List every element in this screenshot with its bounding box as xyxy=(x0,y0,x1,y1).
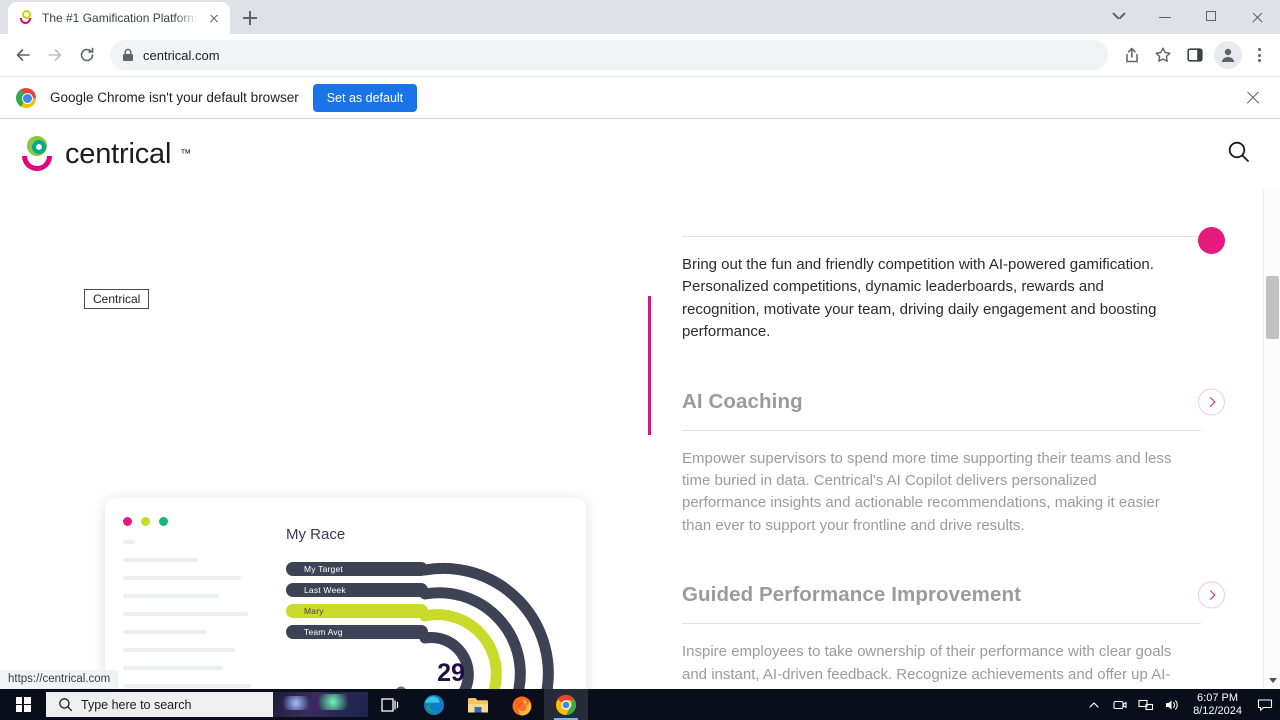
brand-wordmark: centrical xyxy=(65,138,171,171)
reload-icon[interactable] xyxy=(72,40,102,70)
chrome-window: The #1 Gamification Platform fo centrica… xyxy=(0,0,1280,689)
share-icon[interactable] xyxy=(1116,40,1146,70)
start-button[interactable] xyxy=(0,689,46,720)
set-as-default-button[interactable]: Set as default xyxy=(313,84,417,112)
bookmark-star-icon[interactable] xyxy=(1148,40,1178,70)
maximize-button[interactable] xyxy=(1188,0,1234,34)
address-bar-url: centrical.com xyxy=(143,48,220,63)
my-race-card: My Race My Target Last Week Mary Team Av… xyxy=(105,498,586,689)
tab-strip: The #1 Gamification Platform fo xyxy=(0,0,1280,34)
side-panel-icon[interactable] xyxy=(1180,40,1210,70)
file-explorer-icon[interactable] xyxy=(456,689,500,720)
firefox-icon[interactable] xyxy=(500,689,544,720)
show-hidden-icons[interactable] xyxy=(1081,689,1107,720)
site-secure-lock-icon xyxy=(122,48,134,62)
ai-coaching-body: Empower supervisors to spend more time s… xyxy=(682,431,1185,568)
search-icon xyxy=(58,697,73,712)
infobar-message: Google Chrome isn't your default browser xyxy=(50,90,299,105)
notification-center-icon[interactable] xyxy=(1250,689,1280,720)
windows-taskbar: Type here to search xyxy=(0,689,1280,720)
tab-title: The #1 Gamification Platform fo xyxy=(42,11,198,25)
google-chrome-icon[interactable] xyxy=(544,689,588,720)
close-window-button[interactable] xyxy=(1234,0,1280,34)
brand-trademark: ™ xyxy=(180,148,191,160)
page-viewport: centrical ™ Request a Demo See a Preview… xyxy=(0,119,1280,689)
chrome-menu-icon[interactable] xyxy=(1246,40,1272,70)
collapse-gamification-icon[interactable] xyxy=(1198,227,1225,254)
forward-icon[interactable] xyxy=(40,40,70,70)
close-tab-icon[interactable] xyxy=(206,10,222,26)
back-icon[interactable] xyxy=(8,40,38,70)
browser-tab[interactable]: The #1 Gamification Platform fo xyxy=(8,2,230,34)
guided-performance-body: Inspire employees to take ownership of t… xyxy=(682,624,1185,689)
chevron-right-icon[interactable] xyxy=(1198,582,1225,609)
clock-date: 8/12/2024 xyxy=(1193,705,1242,718)
site-header: centrical ™ xyxy=(0,119,1280,189)
tab-search-chevron-down-icon[interactable] xyxy=(1096,0,1142,34)
close-infobar-icon[interactable] xyxy=(1242,87,1264,109)
window-dots xyxy=(123,517,168,526)
search-icon[interactable] xyxy=(1224,137,1258,171)
logo-tooltip: Centrical xyxy=(84,289,149,309)
score-value: 29 xyxy=(421,661,481,686)
network-icon[interactable] xyxy=(1133,689,1159,720)
gamification-body: Bring out the fun and friendly competiti… xyxy=(682,237,1185,374)
system-tray: 6:07 PM 8/12/2024 xyxy=(1081,689,1280,720)
centrical-favicon-icon xyxy=(18,10,34,26)
window-controls xyxy=(1096,0,1280,34)
task-view-button[interactable] xyxy=(368,689,412,720)
page-content: My Race My Target Last Week Mary Team Av… xyxy=(0,236,1263,689)
skeleton-lines xyxy=(123,540,263,689)
chrome-logo-icon xyxy=(16,88,36,108)
default-browser-infobar: Google Chrome isn't your default browser… xyxy=(0,76,1280,119)
accordion-header-guided-performance[interactable]: Guided Performance Improvement xyxy=(682,567,1201,623)
microsoft-edge-icon[interactable] xyxy=(412,689,456,720)
minimize-button[interactable] xyxy=(1142,0,1188,34)
chevron-right-icon[interactable] xyxy=(1198,388,1225,415)
features-accordion: Bring out the fun and friendly competiti… xyxy=(648,236,1263,689)
address-bar[interactable]: centrical.com xyxy=(110,40,1108,70)
product-illustration: My Race My Target Last Week Mary Team Av… xyxy=(0,305,648,689)
scrollbar-thumb[interactable] xyxy=(1266,276,1279,339)
accordion-title: Guided Performance Improvement xyxy=(682,583,1021,607)
browser-toolbar: centrical.com xyxy=(0,34,1280,76)
volume-icon[interactable] xyxy=(1159,689,1185,720)
race-card-title: My Race xyxy=(286,526,345,543)
race-score: 29 Pts xyxy=(421,661,481,689)
link-status-bubble: https://centrical.com xyxy=(0,670,118,689)
clock-time: 6:07 PM xyxy=(1193,692,1242,705)
accordion-title: AI Coaching xyxy=(682,390,803,414)
page-scrollbar[interactable] xyxy=(1263,119,1280,689)
new-tab-button[interactable] xyxy=(236,4,264,32)
centrical-logo[interactable]: centrical ™ xyxy=(20,134,191,174)
profile-avatar[interactable] xyxy=(1214,41,1242,69)
search-placeholder: Type here to search xyxy=(81,698,191,712)
search-input[interactable]: Type here to search xyxy=(46,692,368,717)
search-highlight-thumbnail xyxy=(273,692,368,717)
active-accordion-accent xyxy=(648,296,651,435)
scroll-down-icon[interactable] xyxy=(1264,672,1280,689)
centrical-mark-icon xyxy=(20,134,56,174)
camera-icon[interactable] xyxy=(1107,689,1133,720)
accordion-header-ai-coaching[interactable]: AI Coaching xyxy=(682,374,1201,430)
taskbar-clock[interactable]: 6:07 PM 8/12/2024 xyxy=(1185,692,1250,718)
